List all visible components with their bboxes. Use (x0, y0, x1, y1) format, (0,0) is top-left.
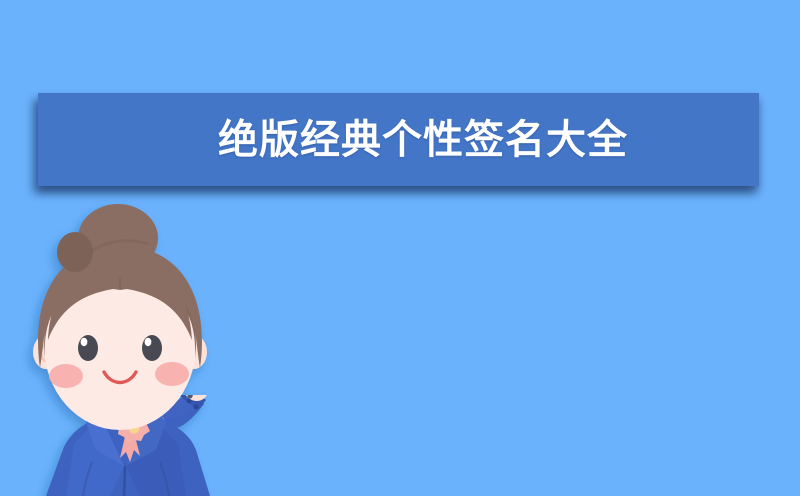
eye-left (78, 335, 98, 361)
teacher-figure-svg (0, 200, 300, 496)
blush-left (49, 364, 83, 388)
figure-group (33, 204, 215, 496)
cuff-button-2 (194, 405, 199, 410)
teacher-illustration (0, 200, 300, 496)
eye-left-highlight (81, 338, 88, 346)
page-title: 绝版经典个性签名大全 (218, 120, 628, 160)
hair-bun-knot (57, 232, 93, 272)
eye-right-highlight (145, 338, 152, 346)
poster-canvas: 绝版经典个性签名大全 (0, 0, 800, 496)
eye-right (142, 335, 162, 361)
blush-right (155, 362, 189, 386)
jacket-center-seam (124, 466, 125, 496)
title-banner: 绝版经典个性签名大全 (38, 93, 759, 186)
